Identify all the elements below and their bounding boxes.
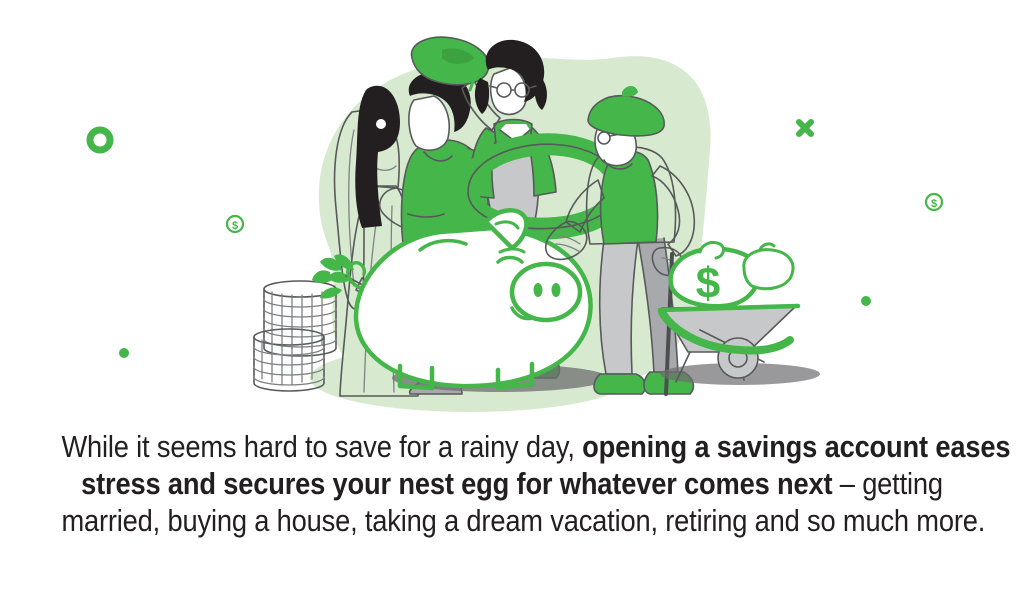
dollar-coin-left: $ xyxy=(227,216,243,232)
caption-line-3-regular: married, buying a house, taking a dream … xyxy=(61,503,985,538)
dollar-coin-right: $ xyxy=(926,194,942,210)
caption-text: While it seems hard to save for a rainy … xyxy=(61,428,962,556)
cross-decoration-right xyxy=(799,122,811,134)
money-bag-second xyxy=(744,244,793,289)
dot-decoration-left xyxy=(119,348,129,358)
ring-decoration-left xyxy=(90,130,110,150)
svg-text:$: $ xyxy=(696,259,720,308)
page-root: .gl { fill:none; stroke:#58595b; stroke-… xyxy=(0,0,1024,598)
svg-text:$: $ xyxy=(232,220,238,232)
caption-line-2-bold: stress and secures your nest egg for wha… xyxy=(81,466,832,501)
caption-line-3: married, buying a house, taking a dream … xyxy=(61,502,962,539)
caption-line-2-regular: – getting xyxy=(832,466,942,501)
svg-text:$: $ xyxy=(931,198,937,210)
savings-illustration: .gl { fill:none; stroke:#58595b; stroke-… xyxy=(0,0,1024,425)
caption-line-1-regular: While it seems hard to save for a rainy … xyxy=(61,429,582,464)
caption-line-2: stress and secures your nest egg for wha… xyxy=(61,465,962,502)
caption-line-1: While it seems hard to save for a rainy … xyxy=(61,428,962,465)
wheelbarrow-with-money-bags: $ xyxy=(660,242,820,385)
caption-line-1-bold: opening a savings account eases xyxy=(582,429,1010,464)
dot-decoration-right xyxy=(861,296,871,306)
